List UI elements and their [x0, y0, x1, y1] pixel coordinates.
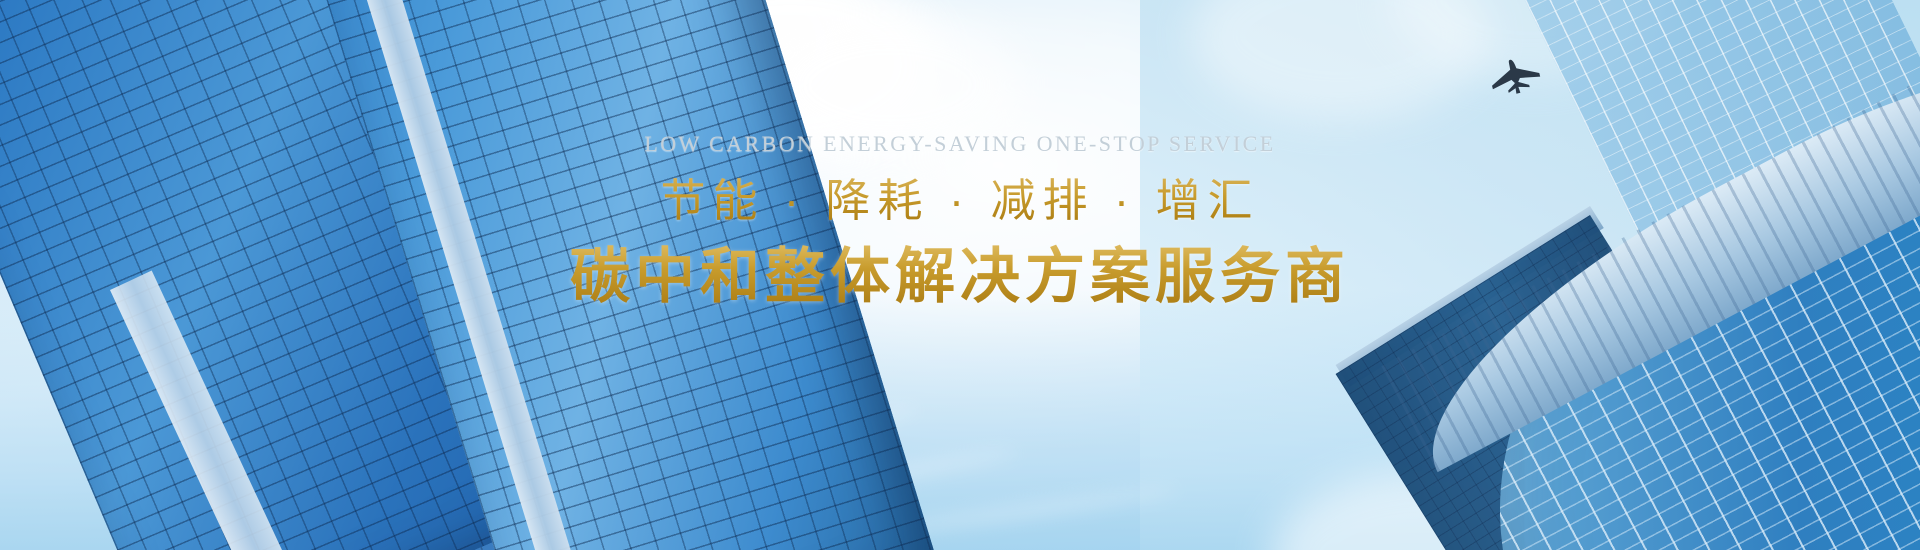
banner-tagline-english: LOW CARBON ENERGY-SAVING ONE-STOP SERVIC… [0, 132, 1920, 156]
banner-headline-chinese: 碳中和整体解决方案服务商 [0, 241, 1920, 313]
banner-subtitle-chinese: 节能 · 降耗 · 减排 · 增汇 [0, 174, 1920, 227]
banner-text-block: LOW CARBON ENERGY-SAVING ONE-STOP SERVIC… [0, 132, 1920, 313]
hero-banner: LOW CARBON ENERGY-SAVING ONE-STOP SERVIC… [0, 0, 1920, 550]
